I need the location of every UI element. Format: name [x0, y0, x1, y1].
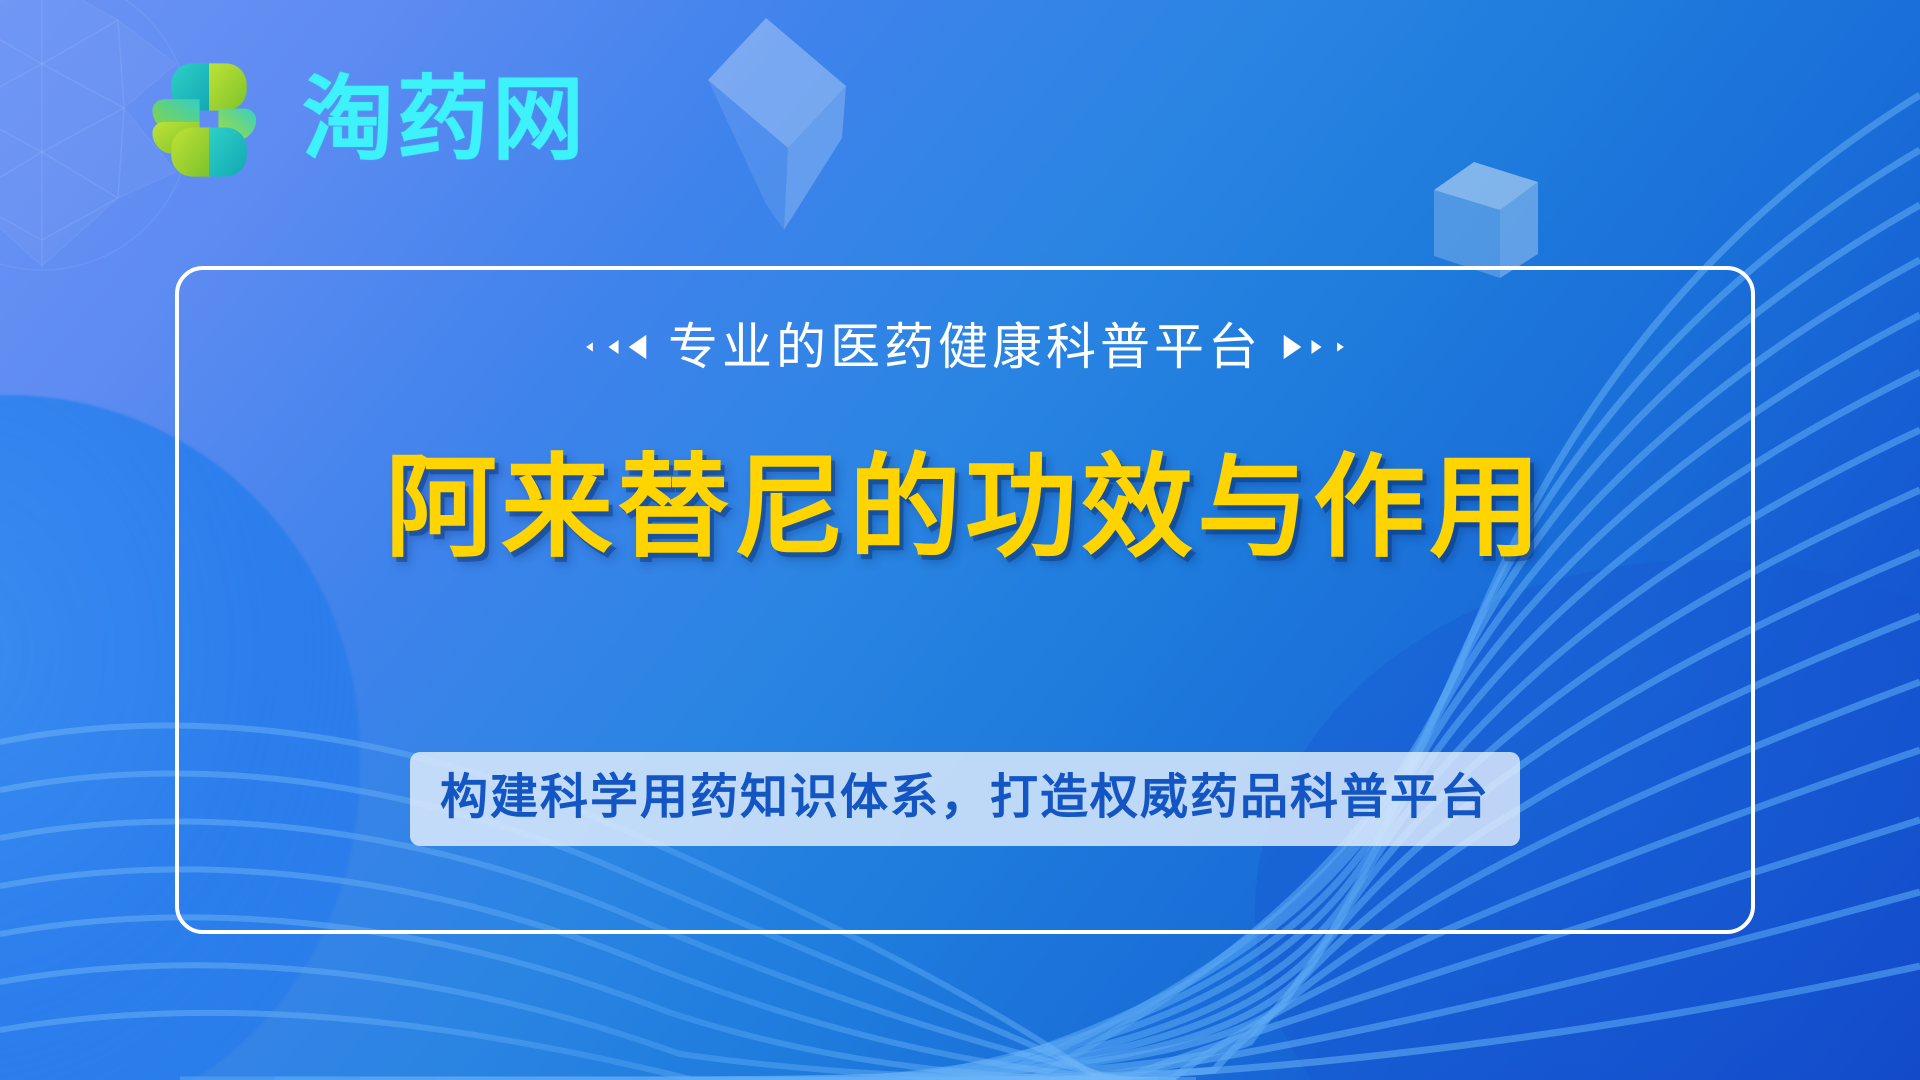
isometric-cube-decoration [700, 8, 850, 238]
medical-cross-pinwheel-icon [142, 54, 276, 186]
brand-name: 淘药网 [302, 74, 587, 166]
isometric-cube-decoration [1428, 158, 1543, 283]
page-title: 阿来替尼的功效与作用 [179, 448, 1751, 569]
eyebrow-text: 专业的医药健康科普平台 [668, 322, 1262, 372]
tagline-banner: 构建科学用药知识体系，打造权威药品科普平台 [410, 752, 1520, 846]
triangle-left-icon [583, 338, 644, 356]
tagline-row: 构建科学用药知识体系，打造权威药品科普平台 [179, 752, 1751, 846]
cover-banner: 淘药网 专业的医药健康科普平台 阿来替尼的功效与作用 构建科学用药知识体系，打造… [0, 0, 1920, 1080]
content-card: 专业的医药健康科普平台 阿来替尼的功效与作用 构建科学用药知识体系，打造权威药品… [175, 266, 1755, 934]
triangle-right-icon [1286, 338, 1347, 356]
brand-header: 淘药网 [142, 55, 587, 185]
eyebrow-row: 专业的医药健康科普平台 [179, 322, 1751, 372]
